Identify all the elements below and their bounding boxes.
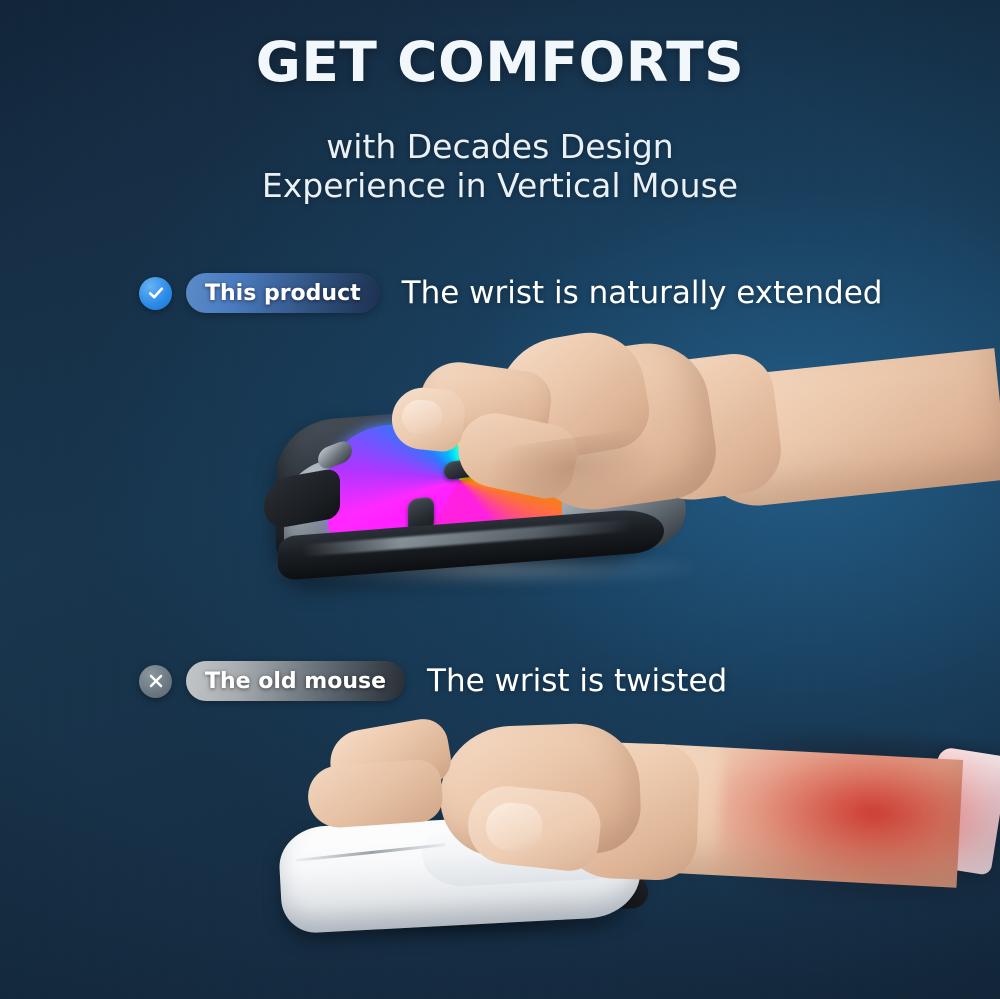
page-subtitle: with Decades Design Experience in Vertic…: [0, 127, 1000, 205]
check-circle-icon: [139, 277, 172, 310]
badge-old-mouse: The old mouse: [186, 661, 405, 701]
comparison-row-bad: The old mouse The wrist is twisted: [139, 661, 727, 701]
promo-poster: GET COMFORTS with Decades Design Experie…: [0, 0, 1000, 999]
middle-finger: [306, 758, 444, 829]
subtitle-line-1: with Decades Design: [0, 127, 1000, 166]
badge-this-product: This product: [186, 273, 380, 313]
page-title: GET COMFORTS: [0, 30, 1000, 94]
hand-neutral-posture: [392, 330, 1000, 580]
caption-good: The wrist is naturally extended: [402, 275, 883, 311]
x-circle-icon: [139, 665, 172, 698]
subtitle-line-2: Experience in Vertical Mouse: [0, 166, 1000, 205]
photo-flat-mouse: [0, 715, 1000, 999]
wrist-pain-glow: [716, 726, 1000, 913]
caption-bad: The wrist is twisted: [427, 663, 727, 699]
comparison-row-good: This product The wrist is naturally exte…: [139, 273, 882, 313]
photo-vertical-mouse: [0, 330, 1000, 620]
hand-twisted-posture: [290, 715, 1000, 995]
